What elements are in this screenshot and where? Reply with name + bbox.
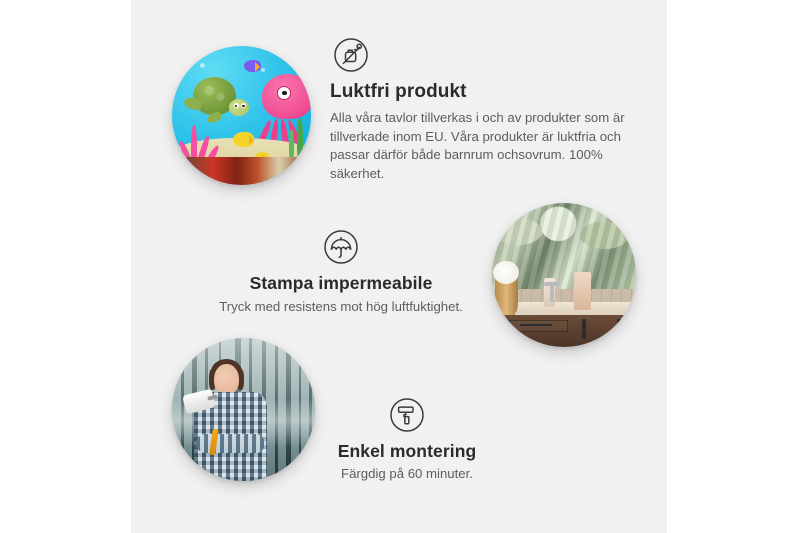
image-bathroom-botanical-wallpaper <box>492 203 636 347</box>
bathroom-artwork <box>492 203 636 347</box>
feature-body: Alla våra tavlor tillverkas i och av pro… <box>330 109 630 183</box>
umbrella-icon <box>322 228 360 266</box>
product-features-banner: Luktfri produkt Alla våra tavlor tillver… <box>0 0 800 533</box>
feature-body: Tryck med resistens mot hög luftfuktighe… <box>196 298 486 316</box>
underwater-artwork <box>172 46 311 185</box>
feature-waterproof-print: Stampa impermeabile Tryck med resistens … <box>196 228 486 316</box>
image-underwater-kids-mural <box>172 46 311 185</box>
feature-body: Färgdig på 60 minuter. <box>292 465 522 483</box>
no-odor-spray-bottle-icon <box>332 36 370 74</box>
feature-title: Stampa impermeabile <box>196 272 486 294</box>
feature-odor-free: Luktfri produkt Alla våra tavlor tillver… <box>330 36 630 183</box>
feature-easy-mounting: Enkel montering Färgdig på 60 minuter. <box>292 396 522 483</box>
feature-title: Enkel montering <box>292 440 522 462</box>
paint-roller-icon <box>388 396 426 434</box>
feature-title: Luktfri produkt <box>330 80 630 104</box>
